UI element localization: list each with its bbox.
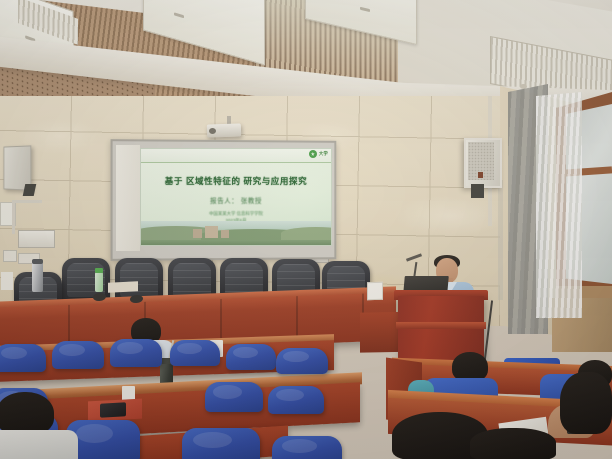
wall-tube (498, 180, 503, 300)
audience-seat[interactable] (110, 339, 162, 367)
slide-title: 基于 区域性特征的 研究与应用探究 (141, 175, 331, 187)
water-bottle-cap (95, 268, 103, 273)
audience-seat[interactable] (205, 382, 263, 412)
projection-screen: 大学 基于 区域性特征的 研究与应用探究 报告人： 张教授 中国某某大学 信息科… (140, 148, 332, 246)
audience-member-foreground-head (470, 428, 556, 459)
slide-footer-photo (141, 221, 331, 245)
ac-control-panel[interactable] (18, 230, 55, 248)
lecture-hall-photo: 大学 基于 区域性特征的 研究与应用探究 报告人： 张教授 中国某某大学 信息科… (0, 0, 612, 459)
smartphone[interactable] (100, 402, 126, 417)
audience-member-front-left-shirt (0, 430, 78, 459)
paper-cup-head-table (1, 272, 13, 290)
audience-seat[interactable] (52, 341, 104, 369)
water-bottle (95, 272, 103, 292)
slide-header-bar: 大学 (141, 149, 331, 163)
whiteboard-panel (116, 145, 140, 251)
name-card (367, 282, 383, 301)
university-logo: 大学 (309, 150, 328, 158)
podium-ledge (396, 322, 486, 329)
ac-conduit (12, 200, 15, 234)
logo-text: 大学 (319, 151, 328, 157)
logo-mark-icon (309, 150, 317, 158)
audience-seat[interactable] (182, 428, 260, 459)
projector-lens-icon (209, 128, 216, 134)
power-outlet-left-edge[interactable] (3, 250, 17, 262)
thermos-flask (32, 262, 43, 292)
audience-seat[interactable] (272, 436, 342, 459)
paper-stack (108, 281, 138, 293)
thermos-cap (32, 259, 43, 264)
ac-conduit-horizontal (12, 200, 42, 203)
audience-member-foreground-right-head (560, 372, 612, 434)
audience-seat[interactable] (226, 344, 276, 370)
speaker-indicator-light (478, 172, 483, 178)
audience-seat[interactable] (276, 348, 328, 374)
audience-seat[interactable] (0, 344, 46, 372)
audience-seat[interactable] (170, 340, 220, 366)
speaker-bracket-right (471, 184, 484, 198)
curtain-sheer[interactable] (536, 92, 582, 318)
slide-presenter-line: 报告人： 张教授 (141, 195, 331, 205)
smoke-detector-icon (520, 84, 527, 89)
audience-seat[interactable] (268, 386, 324, 414)
